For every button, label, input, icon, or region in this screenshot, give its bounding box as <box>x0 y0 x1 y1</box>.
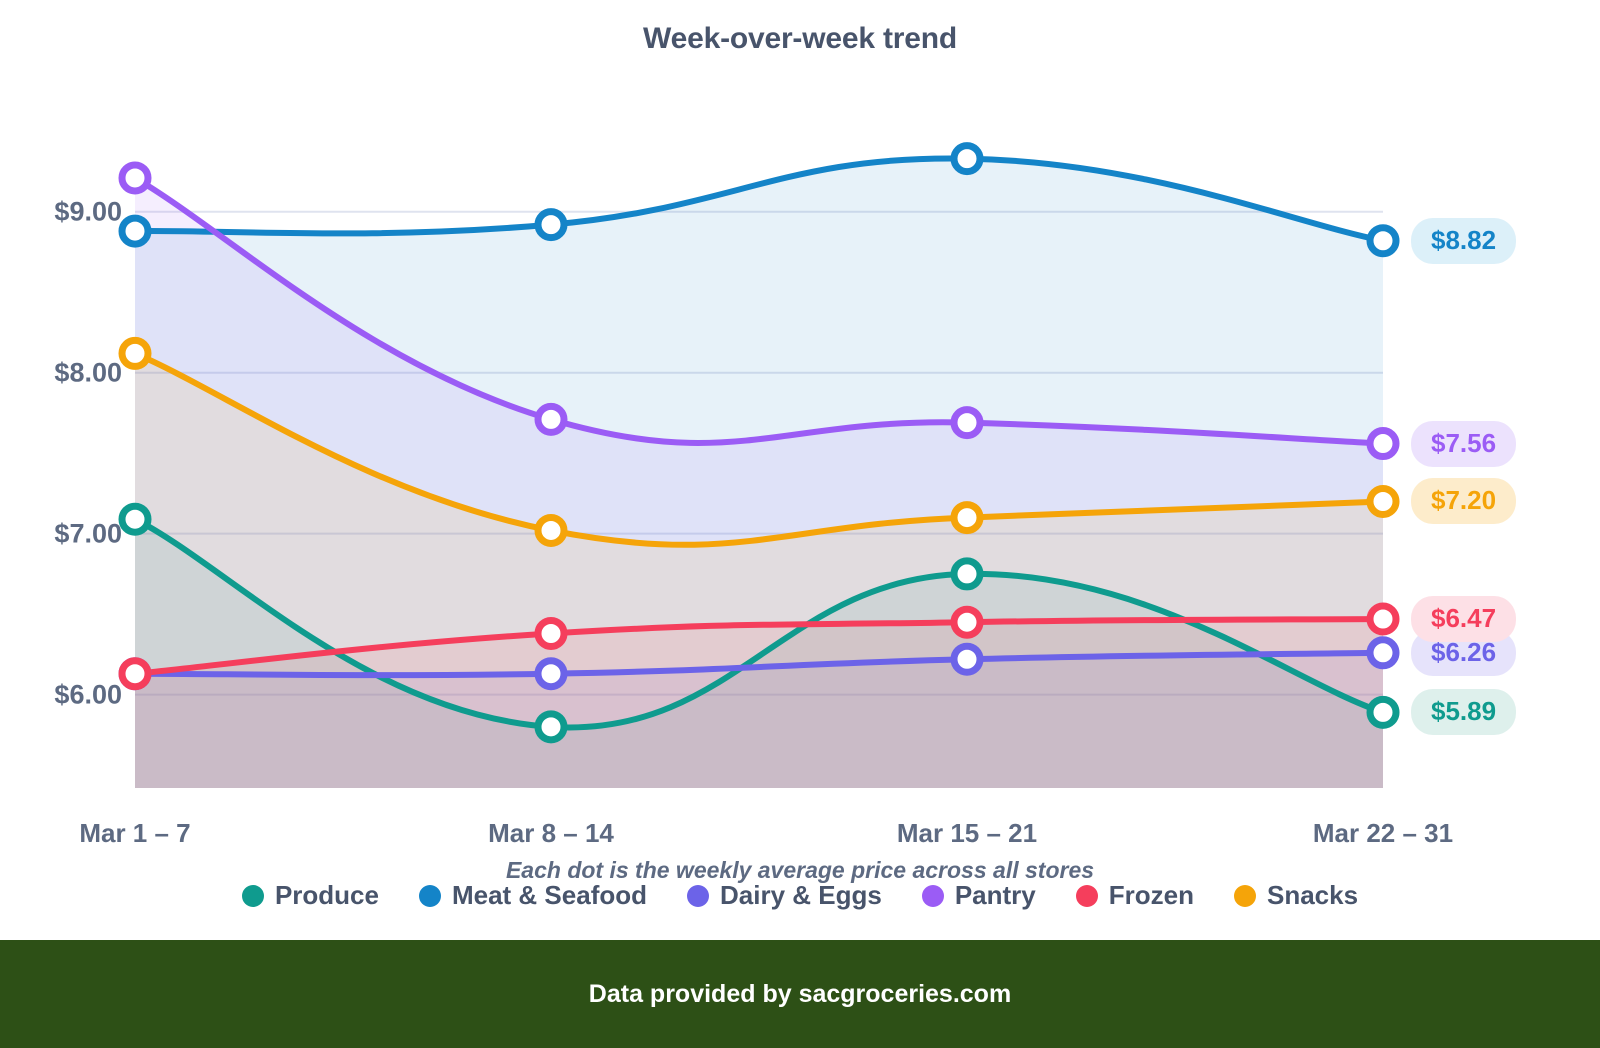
legend-item-snacks[interactable]: Snacks <box>1234 880 1358 911</box>
chart-page: Week-over-week trend $9.00$8.00$7.00$6.0… <box>0 0 1600 1048</box>
end-value-pill: $8.82 <box>1411 218 1516 264</box>
y-axis-tick-label: $8.00 <box>0 357 122 388</box>
data-point[interactable] <box>538 517 564 543</box>
x-axis-tick-label: Mar 1 – 7 <box>79 818 190 849</box>
plot-area: $9.00$8.00$7.00$6.00 Mar 1 – 7Mar 8 – 14… <box>0 0 1600 940</box>
end-value-pill: $7.20 <box>1411 478 1516 524</box>
legend-swatch-icon <box>242 885 264 907</box>
data-point[interactable] <box>954 505 980 531</box>
data-point[interactable] <box>1370 228 1396 254</box>
data-point[interactable] <box>954 561 980 587</box>
legend-item-frozen[interactable]: Frozen <box>1076 880 1194 911</box>
legend-item-pantry[interactable]: Pantry <box>922 880 1036 911</box>
legend-swatch-icon <box>687 885 709 907</box>
legend-swatch-icon <box>922 885 944 907</box>
end-value-pill: $6.47 <box>1411 596 1516 642</box>
data-point[interactable] <box>1370 488 1396 514</box>
legend-label: Frozen <box>1109 880 1194 911</box>
data-point[interactable] <box>1370 699 1396 725</box>
legend-label: Snacks <box>1267 880 1358 911</box>
data-point[interactable] <box>1370 606 1396 632</box>
end-value-pill: $5.89 <box>1411 689 1516 735</box>
footer-bar: Data provided by sacgroceries.com <box>0 940 1600 1048</box>
data-point[interactable] <box>538 714 564 740</box>
data-point[interactable] <box>538 406 564 432</box>
data-point[interactable] <box>122 165 148 191</box>
data-point[interactable] <box>954 146 980 172</box>
line-chart-svg <box>0 0 1600 940</box>
footer-text: Data provided by sacgroceries.com <box>589 980 1011 1009</box>
data-point[interactable] <box>538 620 564 646</box>
x-axis-tick-label: Mar 22 – 31 <box>1313 818 1453 849</box>
data-point[interactable] <box>122 218 148 244</box>
data-point[interactable] <box>122 661 148 687</box>
data-point[interactable] <box>122 340 148 366</box>
legend-label: Produce <box>275 880 379 911</box>
data-point[interactable] <box>122 506 148 532</box>
data-point[interactable] <box>1370 640 1396 666</box>
legend-label: Dairy & Eggs <box>720 880 882 911</box>
data-point[interactable] <box>1370 431 1396 457</box>
legend-label: Pantry <box>955 880 1036 911</box>
end-value-pill: $7.56 <box>1411 421 1516 467</box>
data-point[interactable] <box>954 609 980 635</box>
y-axis-tick-label: $9.00 <box>0 196 122 227</box>
x-axis-tick-label: Mar 15 – 21 <box>897 818 1037 849</box>
legend-swatch-icon <box>1234 885 1256 907</box>
legend-label: Meat & Seafood <box>452 880 647 911</box>
data-point[interactable] <box>954 410 980 436</box>
y-axis-tick-label: $6.00 <box>0 679 122 710</box>
data-point[interactable] <box>954 646 980 672</box>
series-areas <box>135 158 1383 788</box>
legend-item-produce[interactable]: Produce <box>242 880 379 911</box>
legend-swatch-icon <box>419 885 441 907</box>
data-point[interactable] <box>538 661 564 687</box>
legend-item-meat-seafood[interactable]: Meat & Seafood <box>419 880 647 911</box>
x-axis-tick-label: Mar 8 – 14 <box>488 818 614 849</box>
data-point[interactable] <box>538 212 564 238</box>
legend-swatch-icon <box>1076 885 1098 907</box>
y-axis-tick-label: $7.00 <box>0 518 122 549</box>
legend-item-dairy-eggs[interactable]: Dairy & Eggs <box>687 880 882 911</box>
chart-legend: ProduceMeat & SeafoodDairy & EggsPantryF… <box>0 880 1600 911</box>
